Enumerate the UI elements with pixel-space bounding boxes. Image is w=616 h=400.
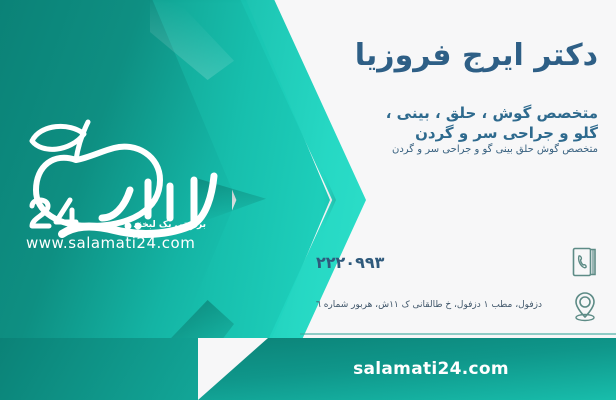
footer-website[interactable]: salamati24.com <box>353 359 509 379</box>
doctor-specialty-line-1: متخصص گوش ، حلق ، بینی ، <box>386 104 598 122</box>
contact-row-address[interactable]: دزفول، مطب ١ دزفول، خ طالقانی ک ١١ش، هرب… <box>312 288 602 324</box>
logo-tagline: براحتی یک لبخند <box>133 220 206 230</box>
phone-text-wrap: ٢٢٢٠٩٩٣ <box>312 253 558 272</box>
map-pin-icon <box>568 288 602 324</box>
footer-divider <box>300 333 616 335</box>
address-text: دزفول، مطب ١ دزفول، خ طالقانی ک ١١ش، هرب… <box>316 300 558 312</box>
doctor-name: دکتر ایرج فروزیا <box>355 38 598 73</box>
logo-badge-24 <box>32 200 76 230</box>
phone-number: ٢٢٢٠٩٩٣ <box>316 253 558 272</box>
contact-row-phone[interactable]: ٢٢٢٠٩٩٣ <box>312 244 602 280</box>
contact-block: ٢٢٢٠٩٩٣ دزفول، مطب ١ دزفول، خ طالقانی ک … <box>312 244 602 332</box>
business-card: براحتی یک لبخند www.salamati24.com دکتر … <box>0 0 616 400</box>
footer-bar: salamati24.com <box>198 338 616 400</box>
logo: براحتی یک لبخند www.salamati24.com <box>14 108 224 273</box>
logo-url[interactable]: www.salamati24.com <box>26 234 195 252</box>
doctor-specialty-line-3: متخصص گوش حلق بینی گو و جراحی سر و گردن <box>392 144 598 155</box>
doctor-specialty-line-2: گلو و جراحی سر و گردن <box>415 124 598 142</box>
address-text-wrap: دزفول، مطب ١ دزفول، خ طالقانی ک ١١ش، هرب… <box>312 300 558 312</box>
phone-book-icon <box>568 244 602 280</box>
